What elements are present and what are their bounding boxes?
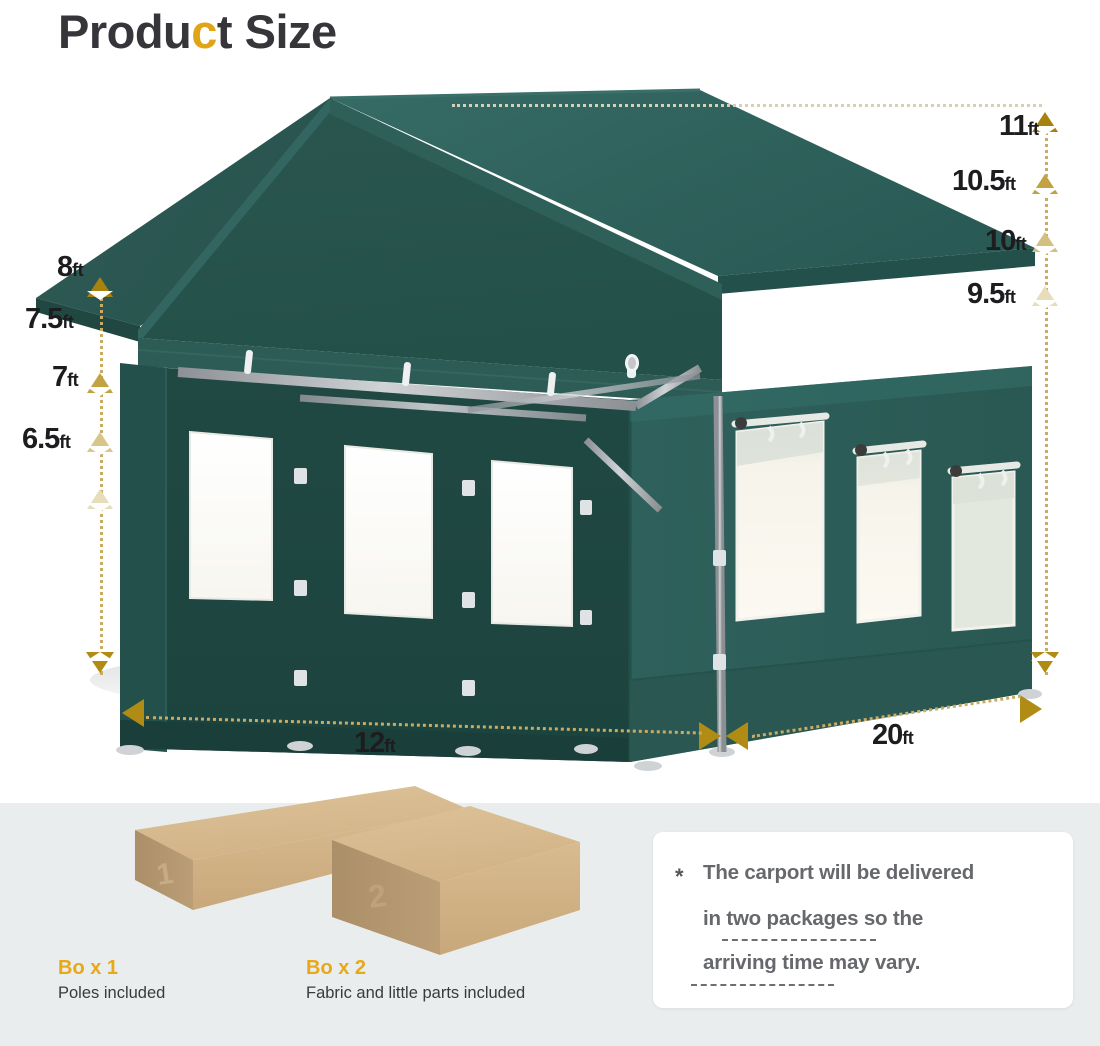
right-dimension-label-1: 10.5ft — [952, 165, 1015, 198]
right-dimension-label-0: 11ft — [999, 110, 1039, 143]
carport-svg — [0, 80, 1100, 803]
left-dimension-arrow-7-5ft — [87, 373, 113, 393]
boxes-svg: 1 2 — [60, 780, 620, 955]
left-dimension-label-2: 7ft — [52, 361, 78, 394]
box-2-subtitle: Fabric and little parts included — [306, 984, 525, 1003]
left-dimension-line — [100, 285, 103, 675]
box-2-title: Bo x 2 — [306, 957, 525, 980]
box-1-title: Bo x 1 — [58, 957, 165, 980]
note-underline-1 — [722, 939, 876, 941]
left-dimension-arrow-bottom — [86, 652, 114, 673]
left-dimension-arrow-6-5ft — [87, 489, 113, 509]
package-boxes-illustration: 1 2 — [60, 780, 620, 950]
note-bullet-icon: * — [675, 864, 684, 890]
note-line-3: arriving time may vary. — [703, 951, 920, 975]
page-title-post: t Size — [217, 5, 337, 58]
width-dimension-label: 12ft — [354, 727, 395, 760]
page-title-accent-letter: c — [191, 5, 217, 58]
left-dimension-label-1: 7.5ft — [25, 303, 73, 336]
note-underline-2 — [691, 984, 834, 986]
left-dimension-label-0: 8ft — [57, 251, 83, 284]
right-dimension-label-3: 9.5ft — [967, 278, 1015, 311]
left-dimension-label-3: 6.5ft — [22, 423, 70, 456]
right-dimension-arrow-10ft — [1032, 232, 1058, 252]
roof-peak-guide-line — [452, 104, 1042, 107]
width-dimension-arrow-right — [699, 722, 721, 750]
carport-illustration — [0, 80, 1100, 803]
length-dimension-arrow-right — [1020, 695, 1042, 723]
note-line-2: in two packages so the — [703, 907, 923, 931]
right-dimension-arrow-10-5ft — [1032, 174, 1058, 194]
page-title-pre: Produ — [58, 5, 191, 58]
length-dimension-label: 20ft — [872, 719, 913, 752]
left-dimension-arrow-7ft — [87, 432, 113, 452]
box-2-label: Bo x 2 Fabric and little parts included — [306, 957, 525, 1003]
length-dimension-arrow-left — [726, 722, 748, 750]
note-line-1: The carport will be delivered — [703, 861, 974, 885]
width-dimension-arrow-left — [122, 699, 144, 727]
right-dimension-line — [1045, 120, 1048, 675]
left-dimension-arrow-8ft — [87, 277, 113, 297]
right-dimension-arrow-9-5ft — [1032, 286, 1058, 306]
box-1-subtitle: Poles included — [58, 984, 165, 1003]
page-title: Product Size — [58, 4, 337, 59]
right-dimension-label-2: 10ft — [985, 225, 1026, 258]
box-1-label: Bo x 1 Poles included — [58, 957, 165, 1003]
delivery-note-card: * The carport will be delivered in two p… — [653, 832, 1073, 1008]
right-dimension-arrow-bottom — [1031, 652, 1059, 673]
